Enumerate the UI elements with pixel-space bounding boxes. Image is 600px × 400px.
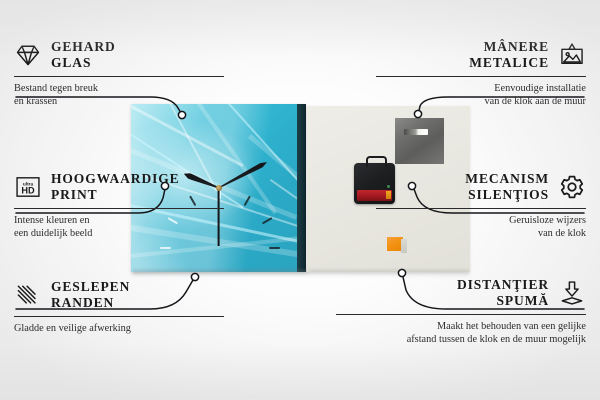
beveled-edges-icon	[14, 281, 42, 309]
gear-icon	[558, 173, 586, 201]
ultra-hd-icon: ultra HD	[14, 173, 42, 201]
picture-frame-icon	[558, 41, 586, 69]
feature-description: Intense kleuren en een duidelijk beeld	[14, 214, 224, 241]
feature-metal-handles: MÂNERE METALICE Eenvoudige installatie v…	[376, 38, 586, 109]
feature-description: Gladde en veilige afwerking	[14, 322, 224, 335]
front-photo-shadow	[133, 270, 309, 277]
feature-title: MECANISM SILENŢIOS	[465, 171, 549, 203]
feature-divider	[336, 314, 586, 315]
feature-divider	[14, 76, 224, 77]
feature-title: HOOGWAARDIGE PRINT	[51, 171, 180, 203]
feature-description: Bestand tegen breuk en krassen	[14, 82, 224, 109]
feature-tempered-glass: GEHARD GLAS Bestand tegen breuk en krass…	[14, 38, 224, 109]
feature-description: Maakt het behouden van een gelijke afsta…	[336, 320, 586, 347]
feature-hd-print: ultra HD HOOGWAARDIGE PRINT Intense kleu…	[14, 170, 224, 241]
feature-header: MÂNERE METALICE	[376, 38, 586, 72]
clock-minute-hand	[217, 160, 268, 190]
diamond-icon	[14, 41, 42, 69]
feature-foam-spacer: DISTANŢIER SPUMĂ Maakt het behouden van …	[336, 276, 586, 347]
stack-down-arrow-icon	[558, 279, 586, 307]
feature-header: DISTANŢIER SPUMĂ	[336, 276, 586, 310]
feature-title: GESLEPEN RANDEN	[51, 279, 130, 311]
feature-silent-mechanism: MECANISM SILENŢIOS Geruisloze wijzers va…	[376, 170, 586, 241]
feature-title: MÂNERE METALICE	[469, 39, 549, 71]
svg-text:HD: HD	[21, 186, 35, 196]
feature-polished-edges: GESLEPEN RANDEN Gladde en veilige afwerk…	[14, 278, 224, 335]
feature-divider	[14, 316, 224, 317]
feature-divider	[14, 208, 224, 209]
feature-title: GEHARD GLAS	[51, 39, 116, 71]
feature-header: GESLEPEN RANDEN	[14, 278, 224, 312]
feature-divider	[376, 208, 586, 209]
feature-header: MECANISM SILENŢIOS	[376, 170, 586, 204]
feature-description: Geruisloze wijzers van de klok	[376, 214, 586, 241]
infographic-canvas: GEHARD GLAS Bestand tegen breuk en krass…	[0, 0, 600, 400]
feature-header: GEHARD GLAS	[14, 38, 224, 72]
glass-edge	[297, 104, 306, 272]
feature-description: Eenvoudige installatie van de klok aan d…	[376, 82, 586, 109]
metal-hanger	[395, 118, 444, 164]
feature-title: DISTANŢIER SPUMĂ	[457, 277, 549, 309]
feature-divider	[376, 76, 586, 77]
feature-header: ultra HD HOOGWAARDIGE PRINT	[14, 170, 224, 204]
hanger-tab	[366, 156, 387, 167]
